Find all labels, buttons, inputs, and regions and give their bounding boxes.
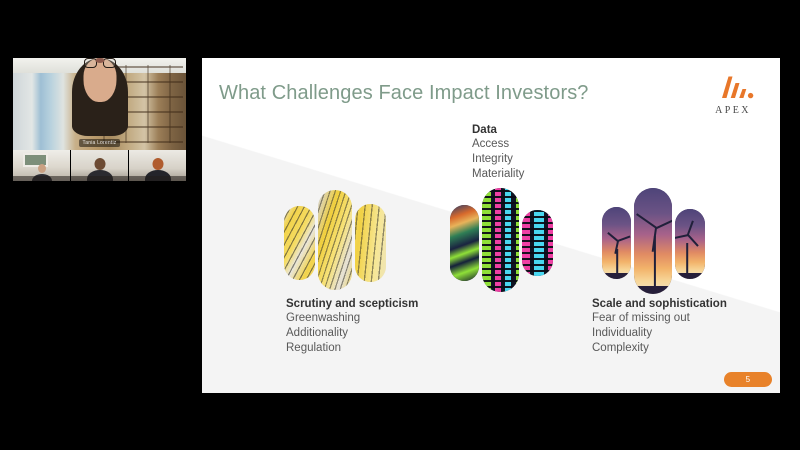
data-pill: [482, 188, 519, 292]
shared-slide[interactable]: What Challenges Face Impact Investors? A…: [202, 58, 780, 393]
data-pill: [450, 205, 479, 281]
block-heading: Scrutiny and scepticism: [286, 298, 418, 310]
wind-pill: [634, 188, 672, 294]
apex-wordmark: APEX: [706, 105, 758, 116]
thumbnail-head: [94, 158, 105, 170]
thumbnail-desk: [129, 176, 186, 181]
block-line: Greenwashing: [286, 311, 418, 326]
thumbnail-head: [152, 158, 163, 170]
block-line: Access: [472, 137, 524, 152]
thumbnail-head: [38, 164, 46, 173]
data-pill: [522, 210, 553, 276]
turbine-icon: [677, 235, 697, 277]
participant-thumbnail[interactable]: [71, 150, 128, 181]
page-title: What Challenges Face Impact Investors?: [219, 82, 589, 105]
block-heading: Scale and sophistication: [592, 298, 727, 310]
text-block-data: Data Access Integrity Materiality: [472, 124, 524, 182]
participant-thumbnail-strip[interactable]: [13, 150, 186, 181]
block-line: Additionality: [286, 326, 418, 341]
active-speaker-tile[interactable]: Tania Lorentiz: [13, 58, 186, 150]
thumbnail-desk: [71, 176, 128, 181]
block-line: Materiality: [472, 167, 524, 182]
apex-logo-icon: [706, 74, 758, 104]
turbine-icon: [642, 228, 668, 290]
apex-logo: APEX: [706, 74, 758, 124]
speaker-mouth: [95, 58, 104, 63]
block-line: Complexity: [592, 341, 727, 356]
measuring-tape-image: [284, 190, 389, 295]
block-heading: Data: [472, 124, 524, 136]
data-bars-image: [450, 188, 555, 298]
participant-thumbnail[interactable]: [129, 150, 186, 181]
text-block-scrutiny: Scrutiny and scepticism Greenwashing Add…: [286, 298, 418, 356]
screen-share-view: Tania Lorentiz: [0, 0, 800, 450]
wind-pill: [602, 207, 631, 279]
block-line: Regulation: [286, 341, 418, 356]
block-line: Individuality: [592, 326, 727, 341]
tape-pill: [355, 204, 386, 282]
tape-pill: [284, 206, 315, 280]
wind-turbine-image: [602, 188, 707, 296]
thumbnail-desk: [13, 176, 70, 181]
block-line: Fear of missing out: [592, 311, 727, 326]
participant-thumbnail[interactable]: [13, 150, 70, 181]
speaker-name-label: Tania Lorentiz: [79, 139, 121, 147]
page-number-badge: 5: [724, 372, 772, 387]
tape-pill: [318, 190, 352, 290]
block-line: Integrity: [472, 152, 524, 167]
wind-pill: [675, 209, 705, 279]
text-block-scale: Scale and sophistication Fear of missing…: [592, 298, 727, 356]
video-conference-panel[interactable]: Tania Lorentiz: [13, 58, 186, 181]
